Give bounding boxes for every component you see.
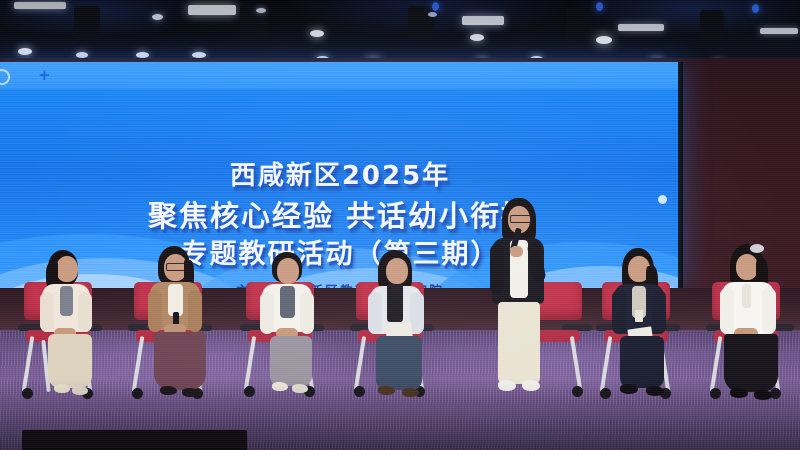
ceiling-lamp bbox=[152, 14, 163, 20]
shoe bbox=[160, 386, 177, 395]
standing-speaker bbox=[484, 198, 562, 403]
stage-light-fixture bbox=[408, 6, 434, 40]
seated-panelist-6 bbox=[706, 244, 800, 402]
chair-leg bbox=[570, 336, 582, 390]
ceiling-bar-light bbox=[14, 2, 66, 9]
arm bbox=[148, 290, 162, 332]
arm bbox=[40, 292, 54, 332]
arm bbox=[368, 292, 382, 334]
chair-caster bbox=[572, 386, 583, 397]
scarf bbox=[387, 284, 403, 322]
ceiling-lamp-blue bbox=[596, 2, 603, 11]
shoe bbox=[730, 388, 748, 398]
shoe bbox=[498, 380, 516, 391]
ceiling-lamp bbox=[428, 12, 437, 17]
arm bbox=[612, 290, 626, 334]
screen-top-band bbox=[0, 62, 682, 89]
ceiling-lamp bbox=[596, 36, 612, 44]
blouse-tie bbox=[742, 284, 751, 308]
arm bbox=[652, 290, 666, 334]
seated-panelist-1 bbox=[26, 248, 118, 400]
ceiling-bar-light bbox=[462, 16, 504, 25]
ceiling-bar-light bbox=[618, 24, 664, 31]
stage-light-fixture bbox=[566, 8, 592, 42]
arm bbox=[260, 292, 274, 334]
shoe bbox=[402, 388, 419, 397]
ceiling-truss bbox=[0, 0, 800, 62]
arm bbox=[762, 288, 776, 334]
seated-panelist-2 bbox=[136, 246, 228, 402]
stage-photograph: + 西咸新区2025年 聚焦核心经验 共话幼小衔接 专题教研活动（第三期） 主办… bbox=[0, 0, 800, 450]
shoe bbox=[272, 382, 288, 391]
legs-trousers bbox=[498, 302, 540, 384]
screen-title-line-2: 聚焦核心经验 共话幼小衔接 bbox=[0, 193, 682, 235]
hand bbox=[510, 246, 523, 257]
stage-light-fixture bbox=[700, 10, 724, 42]
ceiling-bar-light bbox=[188, 5, 236, 15]
screen-deco-plus-icon: + bbox=[38, 68, 51, 83]
arm bbox=[300, 292, 314, 334]
ceiling-bar-light bbox=[760, 28, 798, 34]
inner-top bbox=[280, 286, 295, 318]
arm bbox=[490, 244, 504, 294]
shoe bbox=[54, 384, 70, 393]
head bbox=[736, 254, 758, 280]
head bbox=[386, 258, 408, 284]
lanyard-badge bbox=[635, 310, 643, 322]
seated-panelist-5 bbox=[600, 248, 692, 402]
eyeglasses-icon bbox=[510, 215, 531, 223]
head bbox=[56, 256, 78, 282]
ceiling-lamp-blue bbox=[752, 4, 759, 13]
hair-clip bbox=[750, 244, 764, 253]
arm bbox=[410, 292, 424, 334]
shoe bbox=[646, 386, 664, 396]
screen-title-line-1: 西咸新区2025年 bbox=[0, 155, 682, 192]
arm bbox=[78, 292, 92, 332]
arm bbox=[188, 290, 202, 332]
shoe bbox=[754, 390, 772, 400]
legs-skirt bbox=[154, 332, 206, 390]
shoe bbox=[620, 384, 638, 394]
stage-edge-monitor bbox=[22, 430, 247, 450]
seated-panelist-4 bbox=[356, 250, 448, 402]
legs-trousers bbox=[620, 336, 664, 388]
shoe bbox=[72, 386, 88, 395]
ceiling-lamp bbox=[470, 34, 484, 41]
arm bbox=[720, 288, 734, 334]
shoe bbox=[378, 386, 395, 395]
seated-panelist-3 bbox=[248, 252, 338, 402]
head bbox=[277, 258, 299, 284]
shoe bbox=[182, 388, 199, 397]
legs-trousers bbox=[270, 336, 312, 386]
ceiling-lamp bbox=[18, 48, 32, 55]
legs-trousers bbox=[48, 334, 92, 388]
inner-top bbox=[60, 286, 73, 316]
legs-skirt bbox=[724, 334, 778, 392]
ceiling-lamp-blue bbox=[432, 2, 439, 11]
legs-jeans bbox=[376, 336, 422, 390]
ceiling-lamp bbox=[310, 30, 324, 37]
shoe bbox=[522, 380, 540, 391]
stage-light-fixture bbox=[74, 6, 100, 40]
ceiling-lamp bbox=[256, 8, 266, 13]
shoe bbox=[292, 384, 308, 393]
ceiling-glow bbox=[0, 0, 800, 62]
